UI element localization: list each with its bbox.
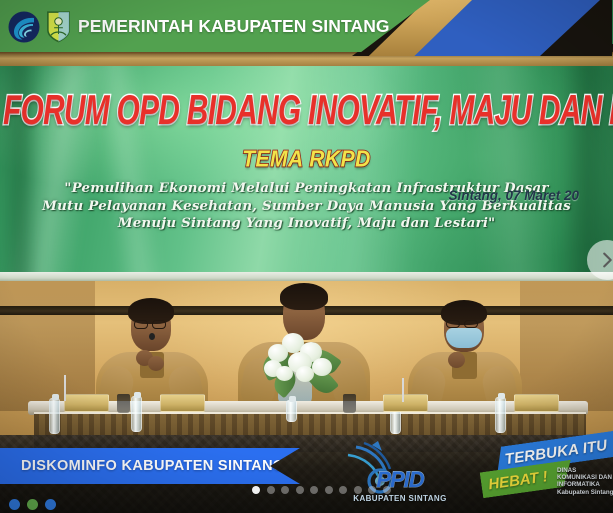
table-nameplate [160, 394, 205, 412]
carousel-dot[interactable] [252, 486, 260, 494]
carousel-dot[interactable] [339, 486, 347, 494]
water-bottle [286, 400, 297, 422]
table-nameplate [64, 394, 109, 412]
banner-quote-line-3: Menuju Sintang Yang Inovatif, Maju dan L… [0, 215, 613, 233]
badge-bottom-label: HEBAT ! [487, 468, 549, 493]
carousel-dot[interactable] [296, 486, 304, 494]
chevron-right-icon [596, 249, 613, 271]
corner-dot [9, 499, 20, 510]
carousel-dot[interactable] [354, 486, 362, 494]
corner-dot [27, 499, 38, 510]
glass-cup [117, 394, 130, 413]
carousel-dot[interactable] [383, 486, 391, 494]
banner-date: Sintang, 07 Maret 20 [448, 188, 579, 203]
carousel-dot[interactable] [368, 486, 376, 494]
banner-tema-label: TEMA RKPD [0, 147, 613, 174]
microphone-stand [402, 378, 404, 402]
ppid-subtitle: KABUPATEN SINTANG [338, 494, 462, 503]
footer-source-label: DISKOMINFO KABUPATEN SINTANG [21, 458, 285, 474]
sintang-crest-icon [46, 10, 71, 43]
carousel-dot[interactable] [310, 486, 318, 494]
video-player-frame[interactable]: PEMERINTAH KABUPATEN SINTANG FORUM OPD B… [0, 0, 613, 513]
corner-dot [45, 499, 56, 510]
table-nameplate [383, 394, 428, 412]
glass-cup [343, 394, 356, 413]
carousel-dot[interactable] [267, 486, 275, 494]
water-bottle [495, 397, 506, 433]
carousel-dot[interactable] [325, 486, 333, 494]
footer-source-banner: DISKOMINFO KABUPATEN SINTANG [0, 448, 300, 484]
microphone-head [149, 333, 155, 340]
carousel-dot[interactable] [281, 486, 289, 494]
banner-title: FORUM OPD BIDANG INOVATIF, MAJU DAN LEST… [3, 88, 610, 135]
wall-panel-right [520, 281, 613, 411]
dinas-caption: DINAS KOMUNIKASI DAN INFORMATIKA Kabupat… [557, 467, 613, 496]
carousel-dots[interactable] [252, 486, 391, 494]
water-bottle [131, 396, 142, 432]
kominfo-swirl-icon [8, 11, 40, 43]
terbuka-hebat-badge: TERBUKA ITU DINAS KOMUNIKASI DAN INFORMA… [493, 439, 613, 501]
table-nameplate [514, 394, 559, 412]
corner-dot-decoration [9, 499, 56, 510]
header-title: PEMERINTAH KABUPATEN SINTANG [78, 0, 390, 52]
banner-text-block: FORUM OPD BIDANG INOVATIF, MAJU DAN LEST… [0, 66, 613, 233]
microphone-stand [64, 375, 66, 401]
water-bottle [49, 398, 60, 434]
ppid-logo: PPID KABUPATEN SINTANG [338, 439, 462, 505]
wall-panel-left [0, 281, 95, 411]
